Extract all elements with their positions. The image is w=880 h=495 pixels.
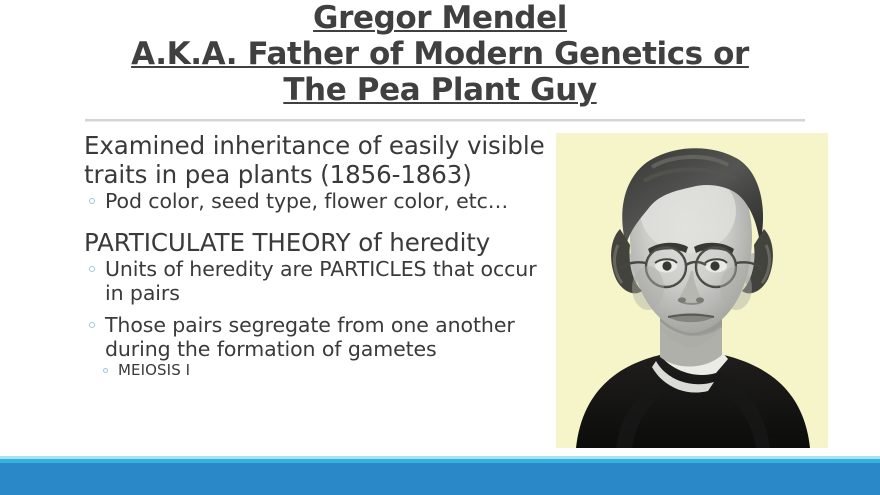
title-line-3: The Pea Plant Guy bbox=[50, 72, 830, 108]
title-divider bbox=[85, 119, 805, 122]
bullet-level2-item1-sub1-text: Pod color, seed type, flower color, etc… bbox=[105, 189, 508, 213]
title-line-1: Gregor Mendel bbox=[50, 0, 830, 36]
bullet-level2-item1-sub1: Pod color, seed type, flower color, etc… bbox=[84, 189, 549, 213]
bullet-level1-item1: Examined inheritance of easily visible t… bbox=[84, 131, 549, 189]
bullet-level3-meiosis: MEIOSIS I bbox=[84, 361, 549, 380]
mendel-portrait-image bbox=[556, 133, 828, 448]
title-line-2-text: A.K.A. Father of Modern Genetics or bbox=[131, 36, 749, 72]
circle-bullet-icon bbox=[89, 198, 95, 204]
bullet-level3-meiosis-text: MEIOSIS I bbox=[118, 361, 190, 379]
accent-bar-main bbox=[0, 463, 880, 495]
bullet-level2-item2-sub2-text: Those pairs segregate from one another d… bbox=[105, 313, 515, 361]
bullet-level2-item2-sub1-text: Units of heredity are PARTICLES that occ… bbox=[105, 257, 537, 305]
circle-bullet-icon bbox=[89, 266, 95, 272]
bullet-level2-item2-sub2: Those pairs segregate from one another d… bbox=[84, 313, 549, 361]
circle-bullet-icon bbox=[103, 368, 108, 373]
slide-root: Gregor Mendel A.K.A. Father of Modern Ge… bbox=[0, 0, 880, 495]
bullet-level1-item2: PARTICULATE THEORY of heredity bbox=[84, 228, 549, 257]
mendel-portrait-svg bbox=[556, 133, 828, 448]
circle-bullet-icon bbox=[89, 322, 95, 328]
bullet-level2-item2-sub1: Units of heredity are PARTICLES that occ… bbox=[84, 257, 549, 305]
title-line-2: A.K.A. Father of Modern Genetics or bbox=[50, 36, 830, 72]
title-line-3-text: The Pea Plant Guy bbox=[283, 72, 596, 108]
title-line-1-text: Gregor Mendel bbox=[313, 0, 567, 36]
slide-title: Gregor Mendel A.K.A. Father of Modern Ge… bbox=[50, 0, 830, 108]
slide-body: Examined inheritance of easily visible t… bbox=[84, 131, 549, 380]
